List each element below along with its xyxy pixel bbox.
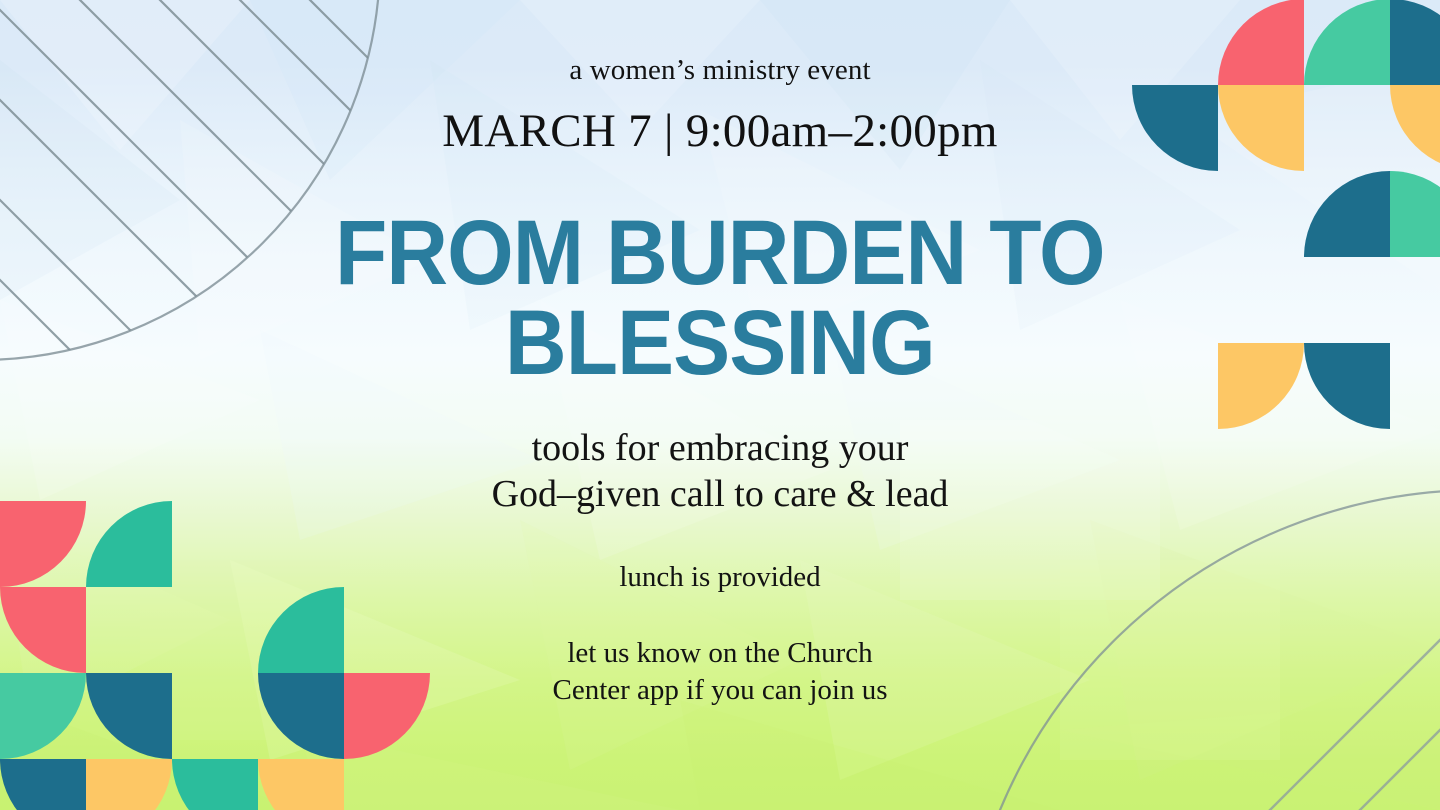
event-title-line-2: BLESSING xyxy=(335,298,1105,388)
rsvp-line-2: Center app if you can join us xyxy=(552,672,887,710)
event-flyer: a women’s ministry event MARCH 7 | 9:00a… xyxy=(0,0,1440,810)
event-subtitle-line-1: tools for embracing your xyxy=(492,425,949,471)
event-title-line-1: FROM BURDEN TO xyxy=(335,208,1105,298)
event-kicker: a women’s ministry event xyxy=(569,55,870,87)
lunch-note: lunch is provided xyxy=(619,561,820,594)
rsvp-instructions: let us know on the Church Center app if … xyxy=(552,635,887,710)
flyer-text-content: a women’s ministry event MARCH 7 | 9:00a… xyxy=(0,0,1440,810)
event-title: FROM BURDEN TO BLESSING xyxy=(335,208,1105,388)
event-datetime: MARCH 7 | 9:00am–2:00pm xyxy=(442,107,998,156)
event-subtitle: tools for embracing your God–given call … xyxy=(492,425,949,518)
event-subtitle-line-2: God–given call to care & lead xyxy=(492,471,949,517)
rsvp-line-1: let us know on the Church xyxy=(552,635,887,673)
